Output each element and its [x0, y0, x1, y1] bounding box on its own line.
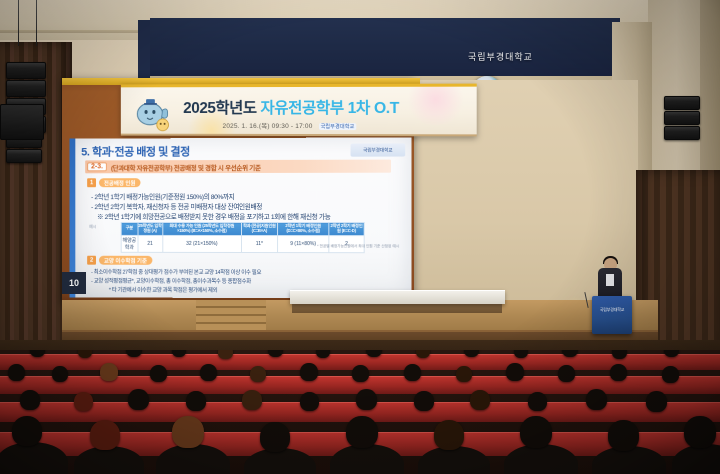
audience-head [300, 392, 319, 411]
slide-subsection-bar: 2-3. (단과대학 자유전공학부) 전공배정 및 경합 시 우선순위 기준 [85, 160, 391, 174]
audience-head [558, 365, 575, 382]
speaker-right-box-1 [664, 96, 700, 110]
audience-head [684, 416, 716, 448]
banner-subtitle-row: 2025. 1. 16.(목) 09:30 - 17:00 국립부경대학교 [223, 120, 357, 130]
slide-table-cell-2: 32 (21×150%) [163, 235, 242, 252]
audience-head [662, 366, 679, 383]
presenter-shirt [606, 274, 614, 286]
audience-head [186, 391, 206, 411]
slide-table-cell-3: 11* [241, 235, 277, 252]
stage-table [290, 290, 505, 304]
slide-table-cell-1: 21 [138, 235, 163, 252]
stage-table-legs [292, 303, 502, 313]
slide-bullet-0: - 2학년 1학기 배정가능인원(기준정원 150%)의 80%까지 [91, 191, 234, 201]
audience-head [20, 390, 40, 410]
audience-head [12, 416, 42, 446]
line-array-speaker-left [6, 18, 46, 164]
slide-bullet-2: ※ 2학년 1학기에 희망전공으로 배정받지 못한 경우 배정을 포기하고 1회… [97, 211, 330, 221]
audience-head [242, 390, 262, 410]
speaker-right-box-3 [664, 126, 700, 140]
slide-title: 5. 학과·전공 배정 및 결정 [81, 143, 190, 159]
audience-head [128, 389, 149, 410]
slide-step-1-number: 1 [87, 178, 96, 187]
slide-table-th-5: 2학년 2학기 배정인원 (E=C-D) [329, 223, 364, 236]
slide-bullet-1: - 2학년 2학기 복학자, 재신청자 등 전공 미배정자 대상 잔여인원배정 [91, 201, 262, 211]
audience-head [8, 364, 25, 381]
slide-step-2-label: 교양 이수학점 기준 [99, 256, 152, 265]
audience-head [646, 391, 667, 412]
audience-head [456, 366, 472, 382]
slide-table-th-3: 학과 (전공)지원인원 (C=B×A) [241, 223, 277, 236]
slide-table-header-row: 구분 25학년도 입학정원 (A) 최대 수용 가능 인원 (25학년도 입학정… [121, 222, 364, 235]
audience-head [90, 420, 120, 450]
banner-title-main: 2025학년도 [183, 100, 256, 117]
banner-title: 2025학년도 자유전공학부 1차 O.T [183, 96, 474, 118]
audience-head [528, 392, 547, 411]
slide-table-th-4: 2학년 1학기 배정인원 (D=C×80%, 소수점) [278, 223, 329, 236]
slide-table-th-0: 구분 [121, 222, 137, 235]
banner-university-logo: 국립부경대학교 [319, 123, 357, 130]
audience-head [300, 363, 318, 381]
audience-head [520, 416, 552, 448]
audience-seating [0, 350, 720, 474]
audience-head [506, 363, 524, 381]
navy-acoustic-panel [150, 18, 620, 80]
audience-head [352, 365, 369, 382]
speaker-box-6 [6, 149, 42, 163]
audience-head [414, 391, 434, 411]
speaker-box-2 [6, 80, 46, 97]
slide-table-cell-0: 해양공학과 [121, 235, 137, 252]
line-array-speaker-right [664, 96, 700, 141]
audience-head [260, 422, 290, 452]
subwoofer-left [0, 104, 44, 140]
slide-table-th-2: 최대 수용 가능 인원 (25학년도 입학정원×150%) (B=A×150%,… [163, 222, 242, 235]
audience-head [586, 389, 607, 410]
audience-head [404, 364, 421, 381]
whale-mascot-icon [131, 94, 176, 134]
slide-footnote-0: - 최소이수학점 27학점 중 상대평가 점수가 부여된 본교 교양 14학점 … [91, 268, 261, 276]
slide-step-1-label: 전공배정 인원 [99, 178, 140, 187]
audience-head [52, 366, 68, 382]
audience-head [346, 416, 378, 448]
podium-sign: 국립부경대학교 [592, 307, 632, 313]
slide-table-note: * 전공별 배정가능인원에서 최대 인원 기준 산정된 예시 [317, 244, 399, 249]
slide-footnote-2: * 타 기관에서 이수한 교양 과목 학점은 평가에서 제외 [109, 286, 217, 294]
podium: 국립부경대학교 [592, 296, 632, 334]
audience-head [610, 364, 627, 381]
slide-step-2-number: 2 [87, 256, 96, 265]
slide-subsection-number: 2-3. [87, 162, 107, 171]
audience-head [470, 390, 490, 410]
audience-head [172, 416, 204, 448]
banner-subtitle: 2025. 1. 16.(목) 09:30 - 17:00 [223, 123, 313, 130]
auditorium-photo: 국립부경대학교 2025학년도 자유전공학부 1차 O.T [0, 0, 720, 474]
audience-head [356, 389, 377, 410]
slide-table-caption: 예시 [89, 224, 96, 230]
audience-head [608, 420, 639, 451]
audience-head [150, 365, 167, 382]
audience-head [250, 366, 266, 382]
speaker-right-box-2 [664, 111, 700, 125]
slide-subsection-text: (단과대학 자유전공학부) 전공배정 및 경합 시 우선순위 기준 [111, 161, 261, 171]
slide-university-logo: 국립부경대학교 [351, 143, 406, 156]
wall-sign-university: 국립부경대학교 [468, 50, 533, 63]
slide-step-1: 1 전공배정 인원 [87, 178, 140, 187]
banner-title-accent: 자유전공학부 1차 O.T [261, 100, 399, 117]
audience-head [200, 364, 217, 381]
speaker-cable-a [18, 0, 19, 46]
speaker-box-1 [6, 62, 46, 79]
audience-head [74, 392, 93, 411]
slide-step-2: 2 교양 이수학점 기준 [87, 256, 152, 265]
projected-slide: 5. 학과·전공 배정 및 결정 국립부경대학교 2-3. (단과대학 자유전공… [69, 137, 411, 298]
speaker-cable-b [36, 0, 37, 46]
event-banner: 2025학년도 자유전공학부 1차 O.T 2025. 1. 16.(목) 09… [121, 84, 477, 137]
audience-head [100, 363, 118, 381]
slide-table-th-1: 25학년도 입학정원 (A) [138, 222, 163, 235]
slide-footnote-1: - 교양 성적평점평균*, 교양이수학점, 총 이수학점, 총이수과목수 등 종… [91, 277, 251, 285]
slide-page-number: 10 [62, 272, 86, 294]
audience-head [434, 420, 464, 450]
